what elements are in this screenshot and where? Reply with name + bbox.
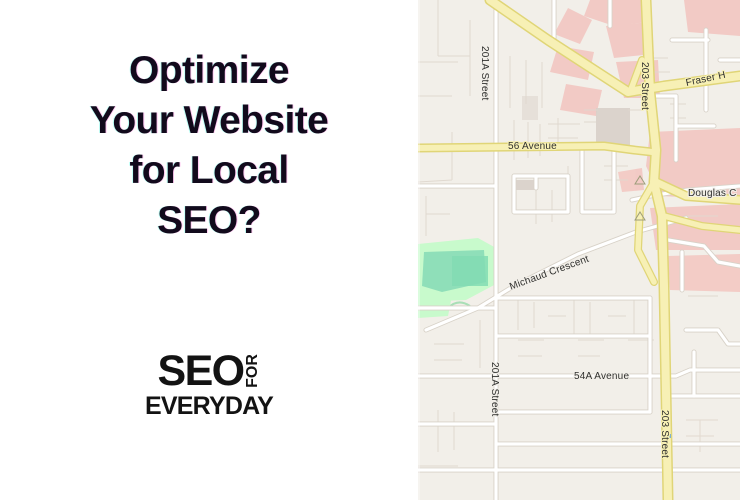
- page-title: Optimize Your Website for Local SEO?: [44, 46, 374, 246]
- logo-everyday-text: EVERYDAY: [145, 393, 273, 419]
- brand-logo: SEO FOR EVERYDAY: [0, 352, 418, 419]
- map-image[interactable]: 201A Street 203 Street Fraser H 56 Avenu…: [418, 0, 740, 500]
- logo-for-wrapper: FOR: [245, 352, 261, 390]
- logo-for-text: FOR: [245, 354, 261, 388]
- headline-line-4: SEO?: [44, 196, 374, 246]
- headline-line-1: Optimize: [44, 46, 374, 96]
- logo-top-row: SEO FOR: [157, 352, 260, 390]
- headline-line-3: for Local: [44, 146, 374, 196]
- logo-seo-text: SEO: [157, 352, 243, 390]
- slide-root: Optimize Your Website for Local SEO? SEO…: [0, 0, 740, 500]
- left-content-panel: Optimize Your Website for Local SEO? SEO…: [0, 0, 418, 500]
- headline-line-2: Your Website: [44, 96, 374, 146]
- map-vector-canvas: [418, 0, 740, 500]
